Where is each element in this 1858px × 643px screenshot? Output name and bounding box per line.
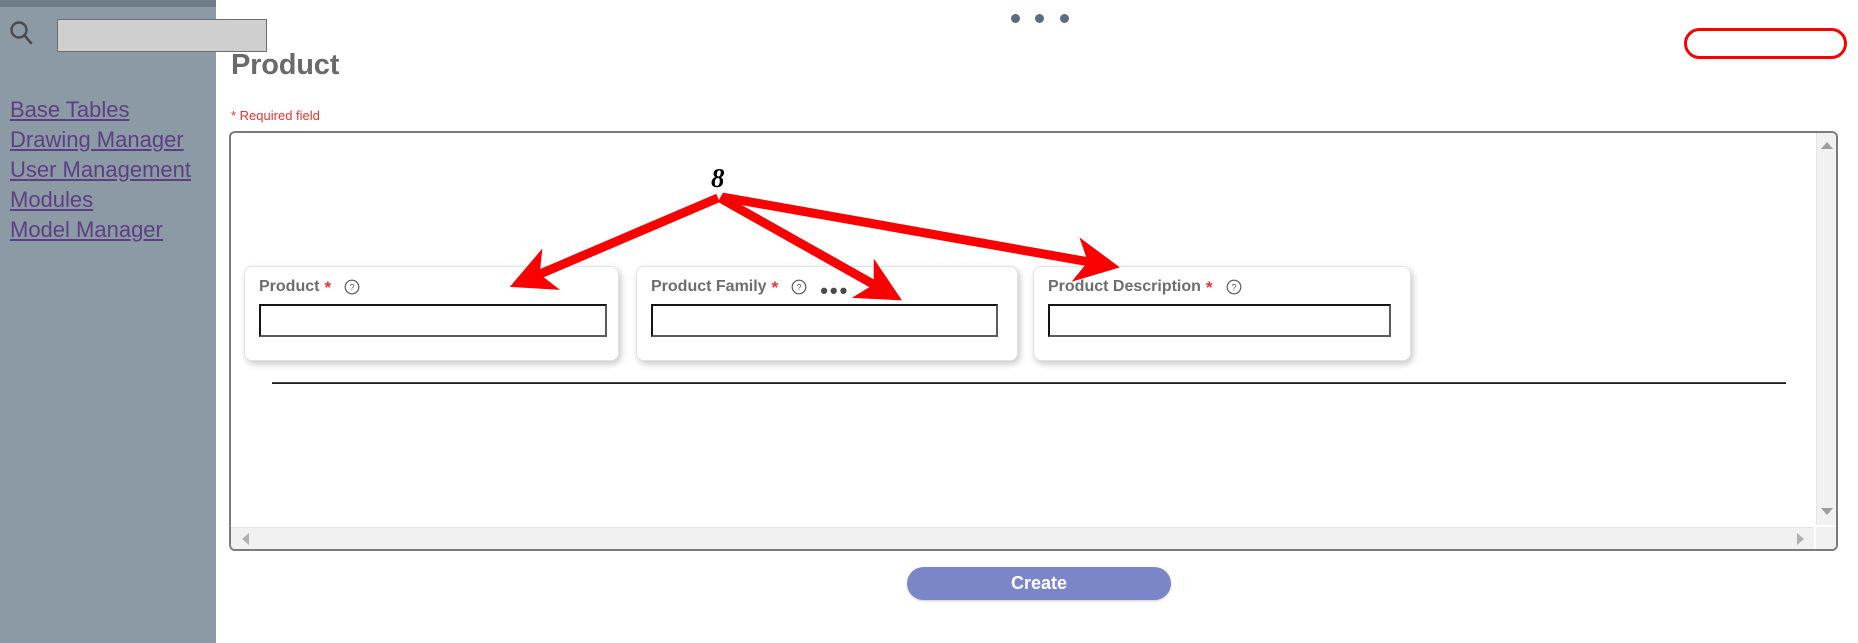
triangle-left-icon[interactable] — [235, 528, 255, 550]
field-label-product-family: Product Family — [651, 278, 767, 296]
svg-text:?: ? — [1231, 283, 1236, 293]
main-content: Product * Required field Product * — [216, 0, 1858, 643]
triangle-right-icon[interactable] — [1790, 528, 1810, 550]
triangle-up-icon[interactable] — [1817, 135, 1837, 155]
horizontal-scrollbar[interactable] — [231, 527, 1814, 549]
section-divider — [272, 382, 1786, 384]
annotation-highlight-pill — [1684, 28, 1847, 59]
required-asterisk: * — [1206, 279, 1213, 296]
required-asterisk: * — [324, 279, 331, 296]
svg-text:?: ? — [350, 283, 355, 293]
triangle-down-icon[interactable] — [1817, 501, 1837, 521]
form-panel: Product * ? — [229, 131, 1838, 551]
field-label-row: Product Family * ? ••• — [651, 277, 849, 297]
page-title: Product — [231, 49, 339, 82]
field-card-product-description: Product Description * ? — [1033, 266, 1411, 361]
sidebar-item-user-management[interactable]: User Management — [10, 155, 240, 185]
question-circle-icon[interactable]: ? — [344, 279, 360, 295]
question-circle-icon[interactable]: ? — [1226, 279, 1242, 295]
sidebar-search-row — [0, 13, 216, 57]
svg-text:?: ? — [797, 283, 802, 293]
sidebar-item-modules[interactable]: Modules — [10, 185, 240, 215]
search-icon[interactable] — [8, 19, 36, 47]
create-button[interactable]: Create — [907, 567, 1171, 600]
form-panel-scroll-area: Product * ? — [231, 133, 1814, 525]
field-label-product-description: Product Description — [1048, 278, 1201, 296]
input-product[interactable] — [259, 304, 607, 337]
field-label-row: Product Description * ? — [1048, 277, 1242, 297]
app-root: Base Tables Drawing Manager User Managem… — [0, 0, 1858, 643]
required-asterisk: * — [772, 279, 779, 296]
window-dot — [1060, 14, 1069, 23]
sidebar: Base Tables Drawing Manager User Managem… — [0, 0, 216, 643]
more-options-ellipsis-icon[interactable]: ••• — [820, 286, 849, 296]
window-dots-icon — [1011, 14, 1071, 28]
sidebar-item-base-tables[interactable]: Base Tables — [10, 95, 240, 125]
field-label-row: Product * ? — [259, 277, 360, 297]
annotation-step-number: 8 — [711, 163, 725, 194]
input-product-family[interactable] — [651, 304, 998, 337]
search-input[interactable] — [57, 19, 267, 52]
field-label-product: Product — [259, 278, 319, 296]
question-circle-icon[interactable]: ? — [791, 279, 807, 295]
sidebar-nav-list: Base Tables Drawing Manager User Managem… — [10, 95, 240, 245]
vertical-scrollbar[interactable] — [1816, 133, 1836, 525]
window-dot — [1035, 14, 1044, 23]
field-card-product-family: Product Family * ? ••• — [636, 266, 1018, 361]
sidebar-item-model-manager[interactable]: Model Manager — [10, 215, 240, 245]
sidebar-item-drawing-manager[interactable]: Drawing Manager — [10, 125, 240, 155]
required-field-note: * Required field — [231, 108, 320, 123]
window-dot — [1011, 14, 1020, 23]
input-product-description[interactable] — [1048, 304, 1391, 337]
scrollbar-corner — [1816, 527, 1836, 549]
field-card-product: Product * ? — [244, 266, 619, 361]
